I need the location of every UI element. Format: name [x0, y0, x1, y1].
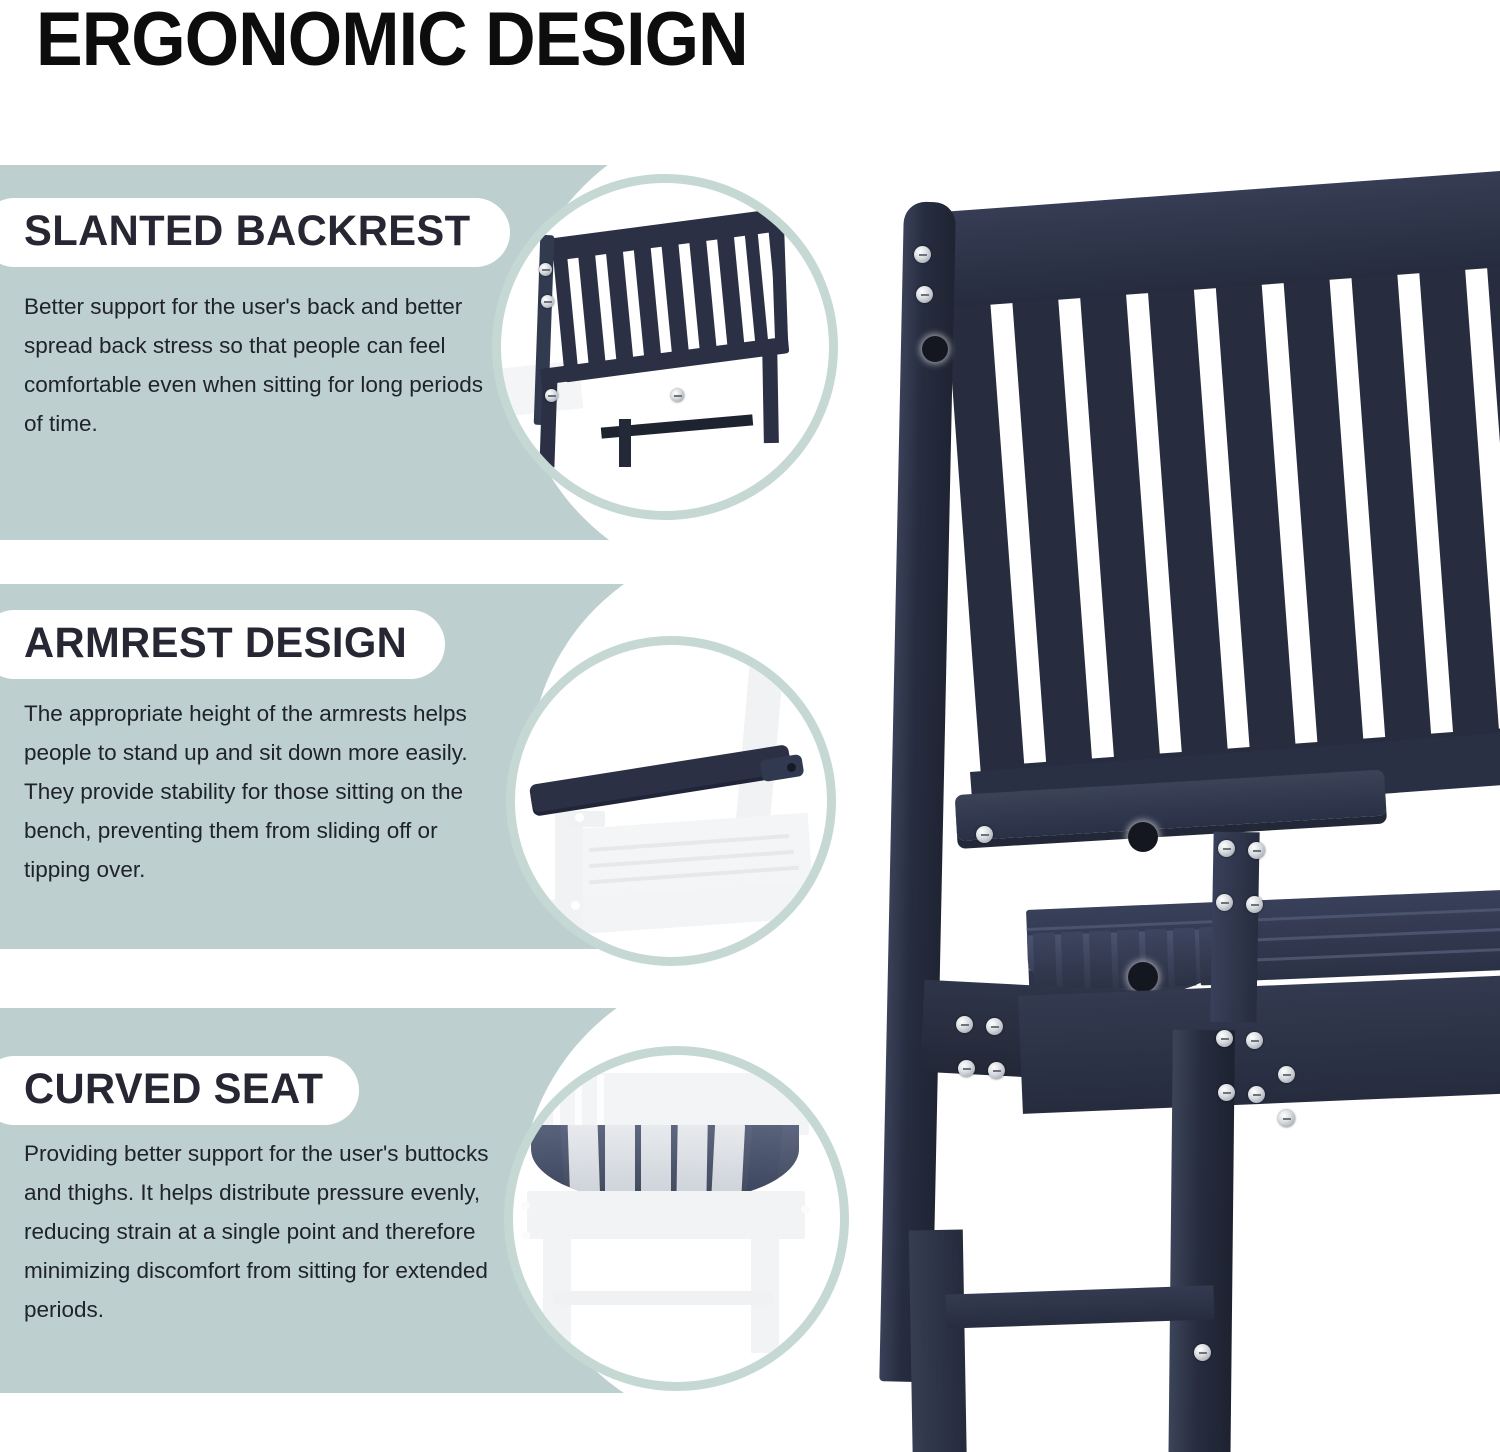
feature-title-curved-seat: CURVED SEAT: [24, 1065, 323, 1114]
armrest-bolt-hole: [1128, 822, 1158, 852]
feature-body-curved-seat: Providing better support for the user's …: [24, 1134, 502, 1329]
feature-inset-photo-curved-seat: [504, 1046, 849, 1391]
bench-rear-view-illustration: [501, 183, 829, 511]
feature-body-armrest-design: The appropriate height of the armrests h…: [24, 694, 502, 889]
feature-title-armrest-design: ARMREST DESIGN: [24, 619, 407, 668]
feature-body-slanted-backrest: Better support for the user's back and b…: [24, 287, 502, 443]
hero-product-photo: [860, 150, 1500, 1452]
bench-curved-seat-illustration: [513, 1055, 840, 1382]
infographic-page: ERGONOMIC DESIGN SLANTED BACKREST Better…: [0, 0, 1500, 1452]
bench-armrest-illustration: [515, 645, 827, 957]
seat-bolt-hole: [1128, 962, 1158, 992]
feature-inset-photo-armrest-design: [506, 636, 836, 966]
feature-title-pill-armrest-design: ARMREST DESIGN: [0, 610, 445, 679]
page-title: ERGONOMIC DESIGN: [36, 0, 748, 83]
feature-title-slanted-backrest: SLANTED BACKREST: [24, 207, 470, 256]
feature-title-pill-slanted-backrest: SLANTED BACKREST: [0, 198, 510, 267]
feature-inset-photo-slanted-backrest: [492, 174, 838, 520]
feature-title-pill-curved-seat: CURVED SEAT: [0, 1056, 359, 1125]
